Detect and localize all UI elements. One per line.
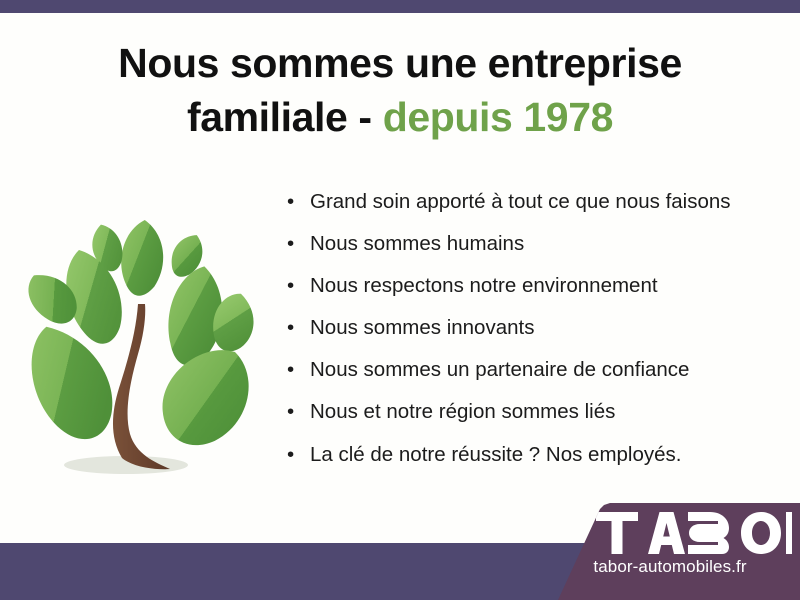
bullet-marker-icon: • xyxy=(287,190,294,215)
page-title: Nous sommes une entreprise familiale - d… xyxy=(60,36,740,144)
website-url-label: tabor-automobiles.fr xyxy=(548,557,800,577)
tree-trunk xyxy=(113,304,170,469)
top-accent-bar xyxy=(0,0,800,13)
leaf-lower-right xyxy=(160,346,251,448)
list-item-label: Grand soin apporté à tout ce que nous fa… xyxy=(310,190,731,213)
brand-logo-panel: tabor-automobiles.fr xyxy=(548,503,800,600)
list-item-label: Nous sommes innovants xyxy=(310,316,534,339)
slide-canvas: Nous sommes une entreprise familiale - d… xyxy=(0,0,800,600)
list-item: • Nous et notre région sommes liés xyxy=(284,400,764,425)
list-item-label: Nous sommes humains xyxy=(310,232,524,255)
list-item: • Grand soin apporté à tout ce que nous … xyxy=(284,190,764,215)
bullet-marker-icon: • xyxy=(287,358,294,383)
bullet-marker-icon: • xyxy=(287,274,294,299)
list-item: • Nous sommes un partenaire de confiance xyxy=(284,358,764,383)
list-item: • La clé de notre réussite ? Nos employé… xyxy=(284,443,764,468)
list-item: • Nous sommes humains xyxy=(284,232,764,257)
headline-line-1: Nous sommes une entreprise xyxy=(118,40,682,86)
value-bullet-list: • Grand soin apporté à tout ce que nous … xyxy=(284,190,764,485)
tabor-wordmark-logo xyxy=(596,512,792,554)
headline-line-2-plain: familiale - xyxy=(187,94,372,140)
bullet-marker-icon: • xyxy=(287,443,294,468)
list-item-label: Nous respectons notre environnement xyxy=(310,274,658,297)
tree-illustration xyxy=(18,182,270,482)
bullet-marker-icon: • xyxy=(287,316,294,341)
bullet-marker-icon: • xyxy=(287,232,294,257)
list-item: • Nous respectons notre environnement xyxy=(284,274,764,299)
leaf-top-center xyxy=(119,219,165,297)
list-item-label: Nous sommes un partenaire de confiance xyxy=(310,358,689,381)
list-item: • Nous sommes innovants xyxy=(284,316,764,341)
headline-line-2-accent: depuis 1978 xyxy=(383,94,613,140)
list-item-label: La clé de notre réussite ? Nos employés. xyxy=(310,443,681,466)
bullet-marker-icon: • xyxy=(287,400,294,425)
list-item-label: Nous et notre région sommes liés xyxy=(310,400,615,423)
